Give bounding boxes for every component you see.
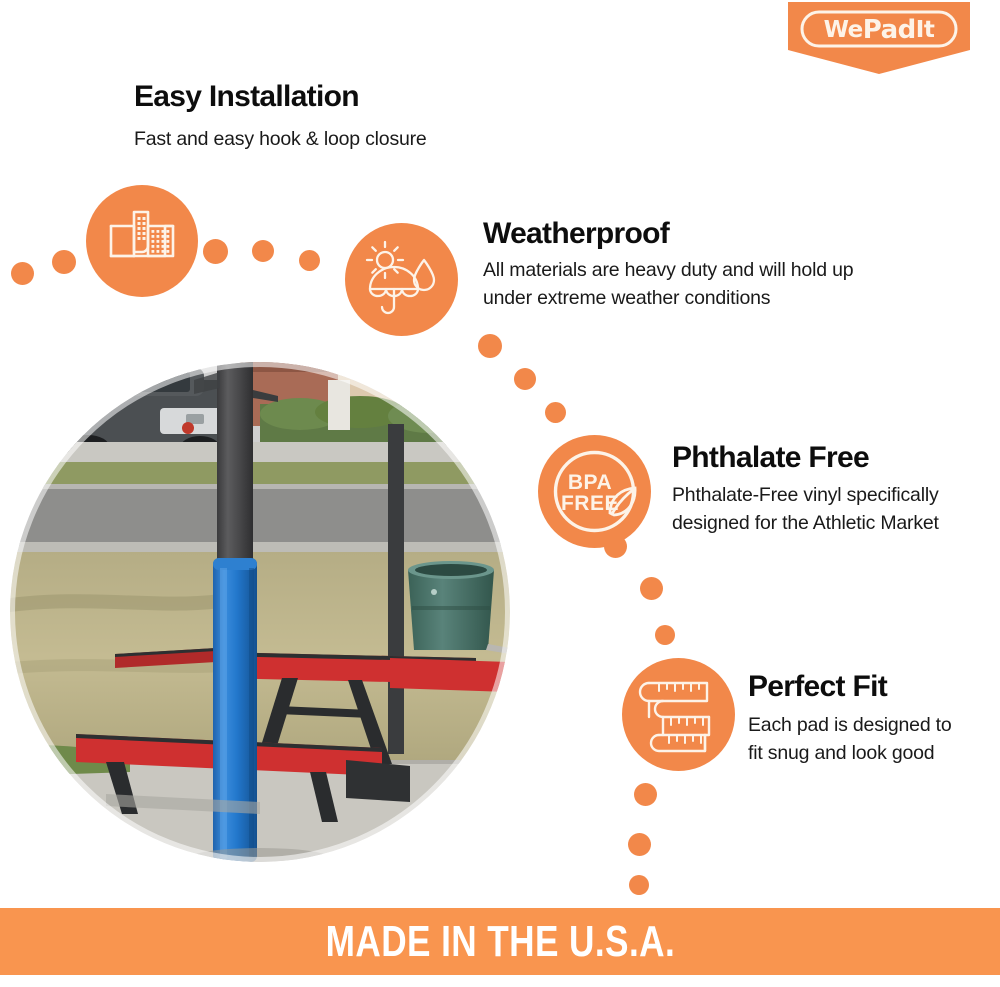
path-dot — [628, 833, 651, 856]
path-dot — [11, 262, 34, 285]
path-dot — [514, 368, 536, 390]
path-dot — [655, 625, 675, 645]
logo-text-it: It — [916, 17, 935, 43]
feature-icon-perfect-fit — [622, 658, 735, 771]
made-in-usa-text: MADE IN THE U.S.A. — [325, 917, 674, 967]
path-dot — [640, 577, 663, 600]
feature-body-weatherproof: All materials are heavy duty and will ho… — [483, 257, 907, 312]
logo-text-pad: Pad — [863, 15, 916, 45]
path-dot — [203, 239, 228, 264]
feature-body-perfect-fit: Each pad is designed to fit snug and loo… — [748, 712, 970, 767]
made-in-usa-banner: MADE IN THE U.S.A. — [0, 908, 1000, 975]
logo-wordmark: WePadIt — [788, 2, 970, 58]
product-photo — [10, 362, 510, 862]
feature-icon-phthalate-free: BPA FREE — [538, 435, 651, 548]
measuring-tape-icon — [637, 673, 721, 757]
hook-and-loop-pad-icon — [103, 202, 181, 280]
logo-text-we: We — [824, 17, 863, 43]
feature-body-phthalate-free: Phthalate-Free vinyl specifically design… — [672, 482, 942, 537]
feature-title-perfect-fit: Perfect Fit — [748, 670, 887, 704]
product-photo-scene — [10, 362, 510, 862]
infographic-canvas: WePadIt Easy Installation Fast and easy … — [0, 0, 1000, 987]
path-dot — [478, 334, 502, 358]
feature-icon-easy-installation — [86, 185, 198, 297]
path-dot — [52, 250, 76, 274]
path-dot — [252, 240, 274, 262]
feature-title-easy-installation: Easy Installation — [134, 80, 359, 114]
sun-umbrella-raindrop-icon — [361, 239, 443, 321]
path-dot — [545, 402, 566, 423]
path-dot — [634, 783, 657, 806]
feature-title-weatherproof: Weatherproof — [483, 217, 669, 251]
svg-text:BPA: BPA — [568, 471, 612, 494]
feature-body-easy-installation: Fast and easy hook & loop closure — [134, 126, 554, 154]
bpa-free-leaf-icon: BPA FREE — [538, 435, 651, 548]
path-dot — [629, 875, 649, 895]
path-dot — [604, 535, 627, 558]
feature-title-phthalate-free: Phthalate Free — [672, 441, 869, 475]
feature-icon-weatherproof — [345, 223, 458, 336]
path-dot — [299, 250, 320, 271]
brand-logo: WePadIt — [788, 2, 970, 74]
